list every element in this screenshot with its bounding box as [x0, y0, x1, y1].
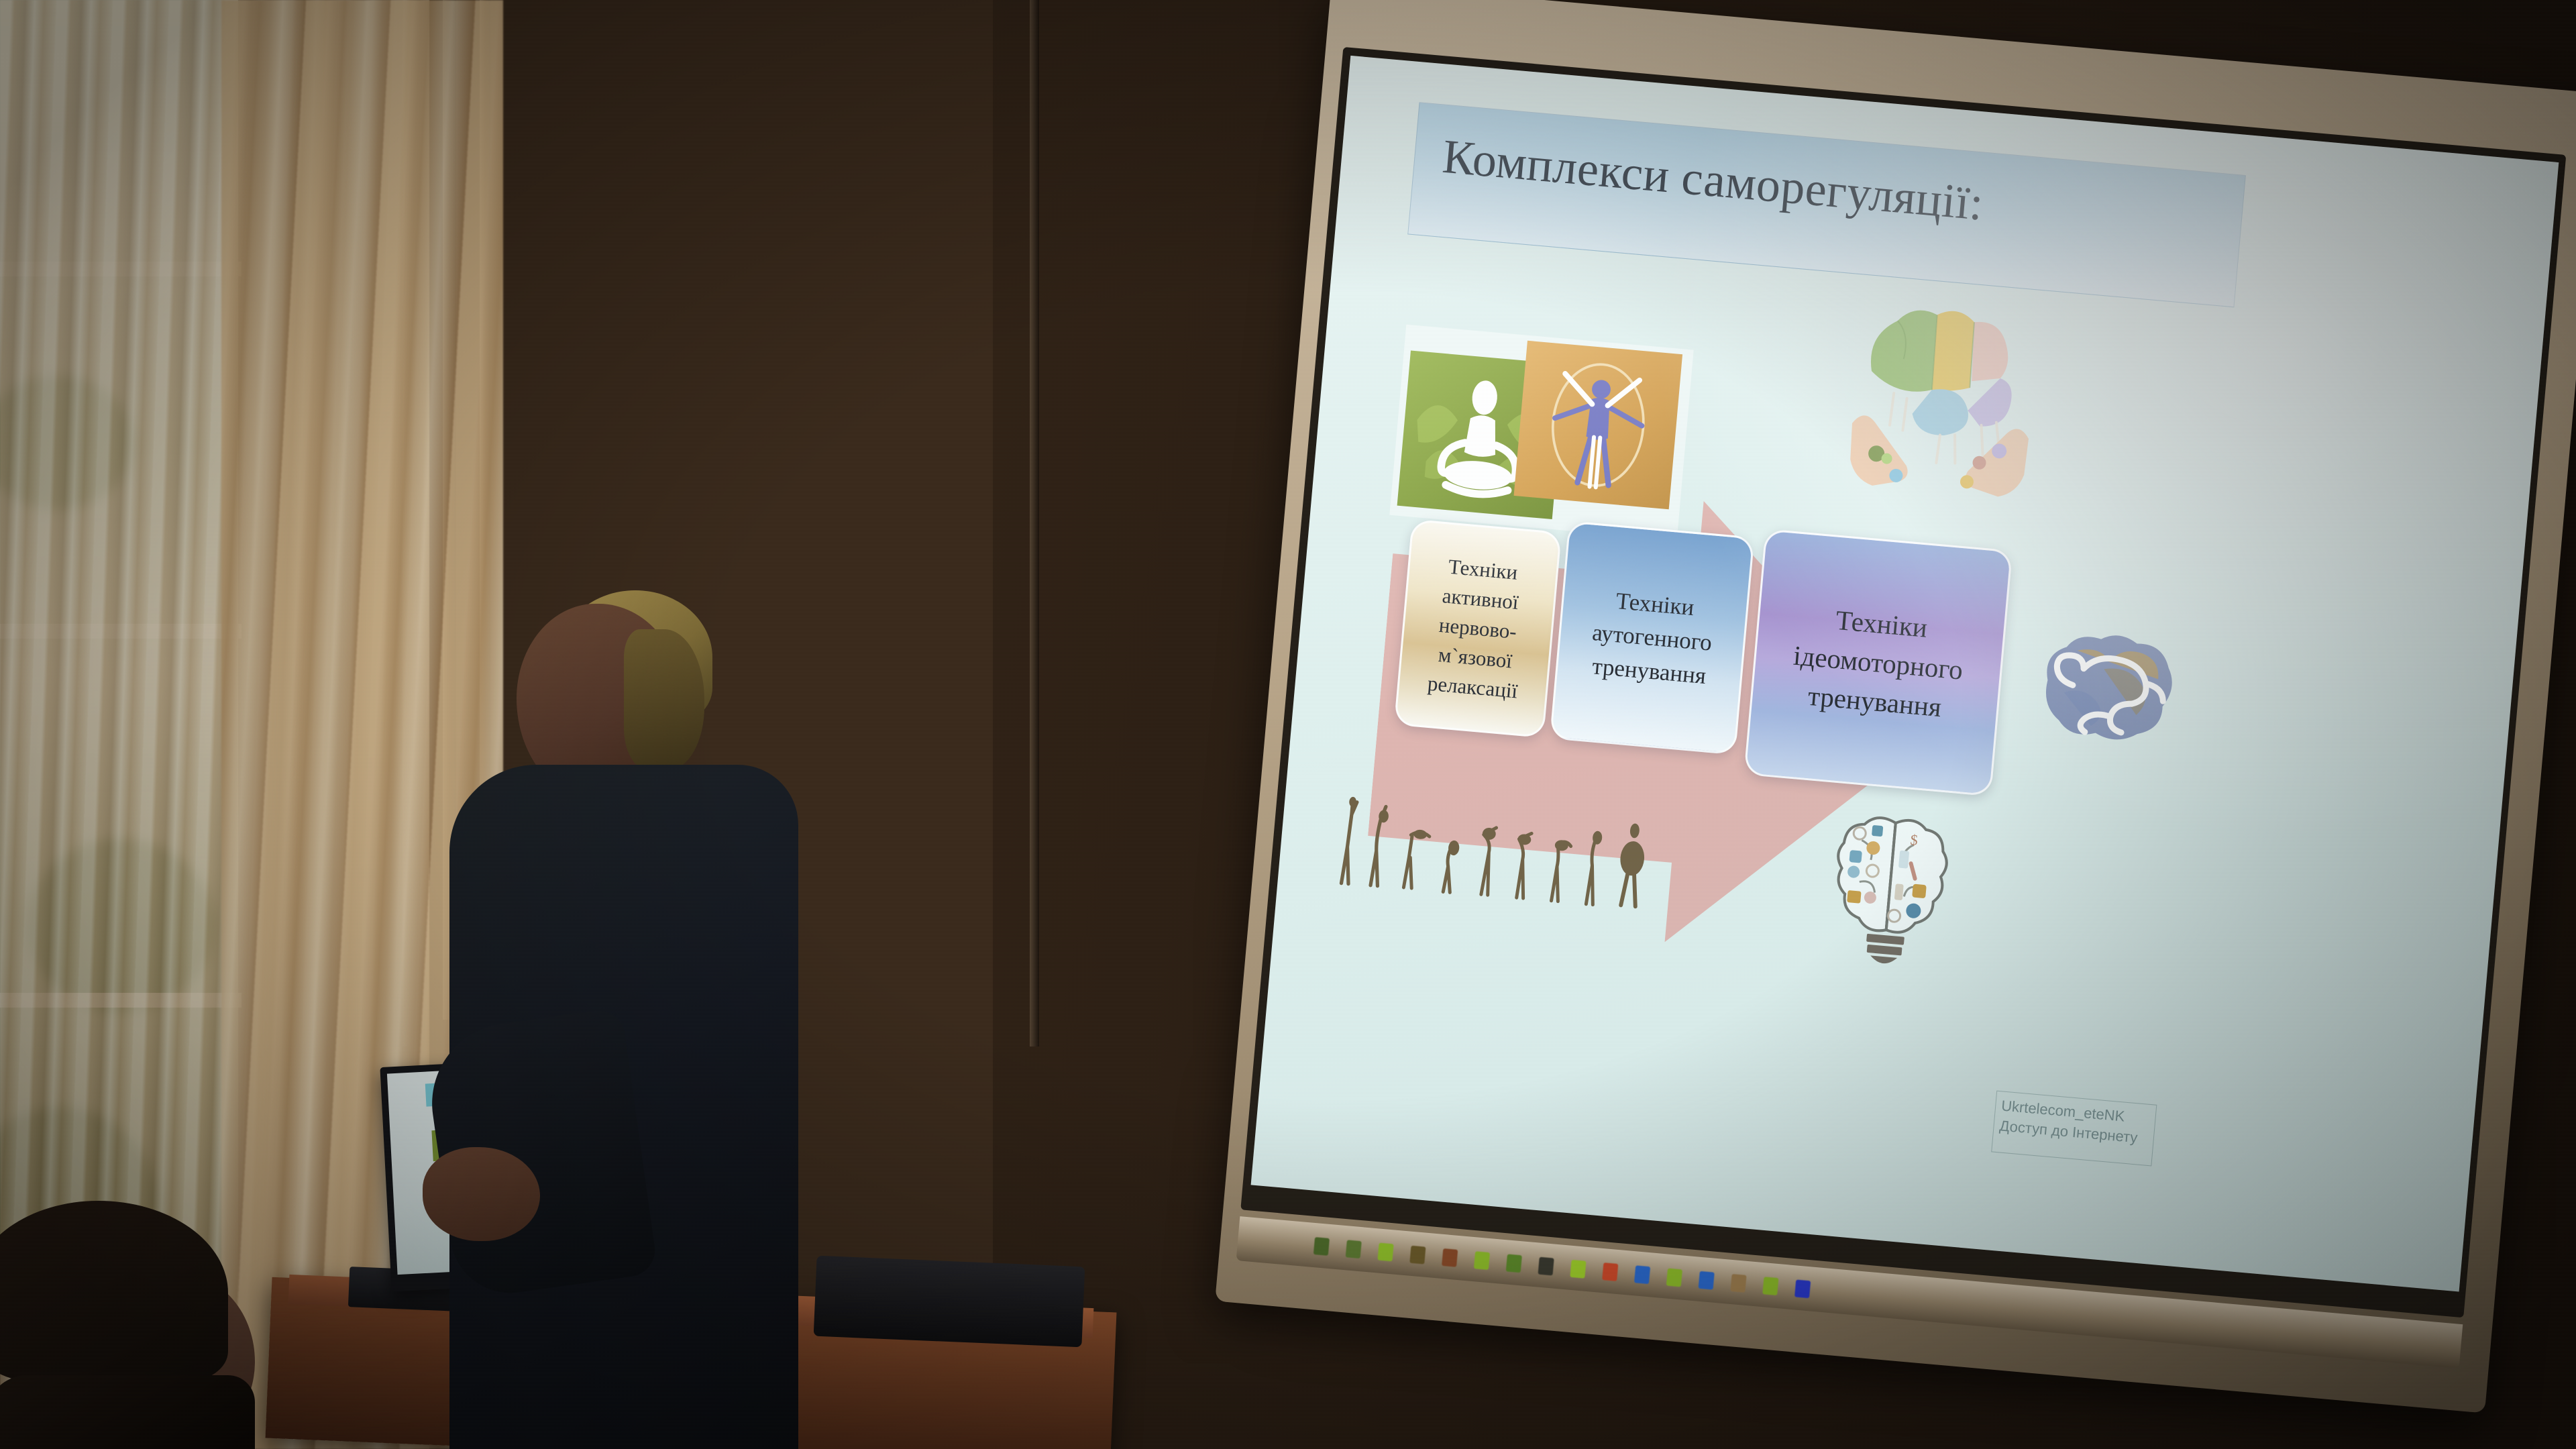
internet-access-watermark: Ukrtelecom_eteNK Доступ до Інтернету: [1991, 1091, 2157, 1167]
pose-figure-8: [1576, 814, 1614, 916]
pose-figure-1: [1330, 792, 1367, 895]
interactive-whiteboard[interactable]: Комплекси саморегуляції:: [1215, 0, 2576, 1413]
pose-figure-9: [1609, 811, 1654, 920]
card-1-label: Технікиактивноїнервово-м`язовоїрелаксаці…: [1419, 551, 1536, 707]
student-hair: [0, 1201, 228, 1382]
pose-figure-2: [1362, 795, 1402, 898]
student-shoulders: [0, 1375, 255, 1449]
presentation-slide: Комплекси саморегуляції:: [1251, 56, 2559, 1292]
toolbar-icon-12[interactable]: [1666, 1269, 1682, 1287]
card-ideomotor-training[interactable]: Технікиідеомоторноготренування: [1743, 529, 2012, 796]
toolbar-icon-5[interactable]: [1442, 1248, 1458, 1267]
whiteboard-screen[interactable]: Комплекси саморегуляції:: [1251, 56, 2559, 1292]
classroom-scene: Комплекси саморегуляції:: [0, 0, 2576, 1449]
toolbar-icon-14[interactable]: [1730, 1274, 1746, 1293]
pose-figure-6: [1504, 808, 1545, 911]
toolbar-icon-8[interactable]: [1538, 1257, 1554, 1276]
toolbar-icon-1[interactable]: [1313, 1237, 1330, 1256]
card-autogenic-training[interactable]: Технікиаутогенноготренування: [1550, 521, 1755, 755]
card-active-muscle-relaxation[interactable]: Технікиактивноїнервово-м`язовоїрелаксаці…: [1394, 519, 1562, 739]
toolbar-icon-2[interactable]: [1346, 1240, 1362, 1258]
pose-figure-3: [1397, 798, 1440, 902]
toolbar-icon-3[interactable]: [1377, 1243, 1393, 1262]
vitruvian-tile: [1514, 341, 1683, 510]
presenter-hair-back: [624, 629, 704, 770]
toolbar-icon-13[interactable]: [1699, 1271, 1715, 1290]
card-3-label: Технікиідеомоторноготренування: [1782, 596, 1975, 729]
toolbar-icon-16[interactable]: [1794, 1279, 1811, 1298]
yoga-poses-strip: [1330, 729, 1659, 920]
toolbar-icon-11[interactable]: [1634, 1265, 1650, 1284]
svg-text:$: $: [1910, 831, 1919, 849]
vitruvian-figure-icon: [1514, 341, 1683, 510]
toolbar-icon-7[interactable]: [1506, 1254, 1522, 1273]
brain-in-hands-illustration: [1833, 282, 2053, 513]
presenter-hand: [423, 1147, 540, 1241]
student: [0, 1201, 282, 1449]
pose-figure-4: [1436, 802, 1471, 904]
wall-corner-edge: [1030, 0, 1039, 1046]
toolbar-icon-15[interactable]: [1762, 1277, 1778, 1295]
pose-figure-5: [1466, 804, 1509, 908]
whiteboard-bezel: Комплекси саморегуляції:: [1240, 47, 2566, 1318]
brain-lightbulb-illustration: $: [1822, 806, 1957, 980]
toolbar-icon-9[interactable]: [1570, 1260, 1586, 1279]
toolbar-icon-6[interactable]: [1474, 1251, 1490, 1270]
toolbar-icon-10[interactable]: [1602, 1263, 1618, 1281]
stylized-brain-illustration: [2027, 620, 2188, 757]
presenter: [402, 590, 912, 1449]
card-2-label: Технікиаутогенноготренування: [1581, 582, 1723, 694]
pose-figure-7: [1540, 810, 1580, 914]
toolbar-icon-4[interactable]: [1409, 1246, 1426, 1265]
